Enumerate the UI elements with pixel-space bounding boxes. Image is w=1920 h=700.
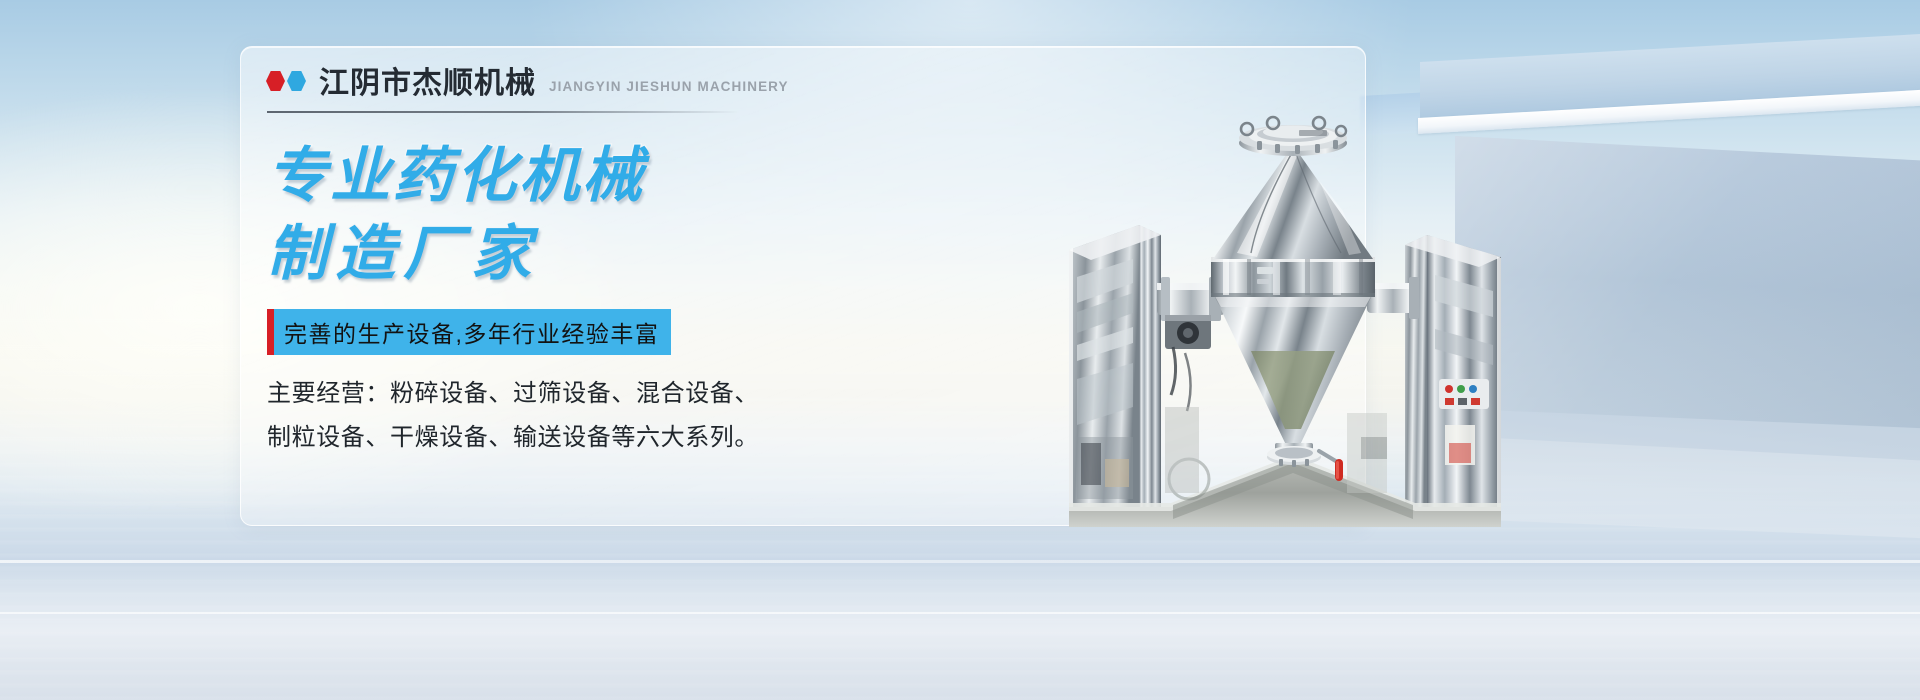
business-scope-line-1: 主要经营：粉碎设备、过筛设备、混合设备、 bbox=[267, 372, 787, 416]
left-drive-shaft bbox=[1157, 277, 1225, 411]
double-cone-mixer-illustration bbox=[1061, 107, 1526, 527]
tagline-bar: 完善的生产设备,多年行业经验丰富 bbox=[267, 309, 671, 355]
content-card: 江阴市杰顺机械 JIANGYIN JIESHUN MACHINERY 专业药化机… bbox=[240, 46, 1366, 526]
double-cone-vessel bbox=[1211, 145, 1375, 447]
tagline-text: 完善的生产设备,多年行业经验丰富 bbox=[284, 315, 659, 349]
horizon-line bbox=[0, 560, 1920, 563]
business-scope-line-2: 制粒设备、干燥设备、输送设备等六大系列。 bbox=[267, 416, 787, 460]
logo-mark bbox=[266, 70, 306, 92]
product-photo bbox=[1061, 107, 1526, 527]
brand-name-en: JIANGYIN JIESHUN MACHINERY bbox=[549, 79, 789, 94]
brand-name-cn: 江阴市杰顺机械 bbox=[319, 69, 536, 99]
top-manhole-flange bbox=[1239, 117, 1347, 156]
brand-logo: 江阴市杰顺机械 JIANGYIN JIESHUN MACHINERY bbox=[266, 69, 789, 99]
horizon-line-secondary bbox=[0, 612, 1920, 614]
page-title: 专业药化机械 制造厂家 bbox=[267, 137, 787, 293]
left-support-column bbox=[1069, 225, 1161, 527]
logo-underline-rule bbox=[267, 111, 739, 113]
headline-line-2: 制造厂家 bbox=[267, 215, 787, 293]
headline-line-1: 专业药化机械 bbox=[267, 137, 787, 215]
hexagon-blue-icon bbox=[287, 70, 306, 92]
business-scope-text: 主要经营：粉碎设备、过筛设备、混合设备、 制粒设备、干燥设备、输送设备等六大系列… bbox=[267, 372, 787, 461]
hexagon-red-icon bbox=[266, 70, 285, 92]
banner-stage: 江阴市杰顺机械 JIANGYIN JIESHUN MACHINERY 专业药化机… bbox=[0, 0, 1920, 700]
right-support-column bbox=[1405, 235, 1501, 527]
